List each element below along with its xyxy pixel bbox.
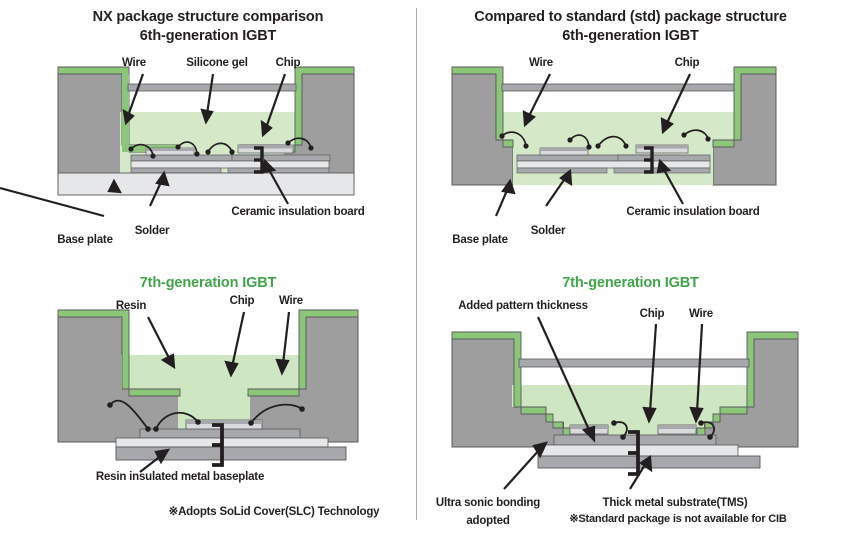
- label-ceramic-insulation-board: Ceramic insulation board: [231, 206, 364, 218]
- label-wire: Wire: [689, 308, 713, 320]
- label-base-plate: Base plate: [57, 234, 113, 246]
- lid-bar: [519, 359, 749, 367]
- silicone-gel-fill: [498, 112, 740, 185]
- lower-copper-pattern-left: [517, 168, 607, 173]
- panel-std-6th-gen: Compared to standard (std) package struc…: [418, 0, 843, 267]
- lid-bar: [502, 84, 734, 91]
- label-chip: Chip: [640, 308, 665, 320]
- chip-right: [238, 145, 293, 153]
- base-plate: [58, 173, 354, 195]
- label-thick-metal-substrate: Thick metal substrate(TMS): [603, 497, 748, 509]
- vertical-divider: [416, 8, 417, 520]
- label-resin: Resin: [116, 300, 146, 312]
- label-added-pattern-thickness: Added pattern thickness: [458, 300, 588, 312]
- upper-copper-pattern-right: [618, 155, 710, 161]
- label-ultrasonic-line2: adopted: [466, 515, 509, 527]
- label-ultrasonic-line1: Ultra sonic bonding: [436, 497, 540, 509]
- ceramic-layer: [517, 161, 710, 168]
- label-chip: Chip: [675, 57, 700, 69]
- panel-7th-gen-right: 7th-generation IGBT: [418, 267, 843, 534]
- ceramic-layer: [131, 161, 329, 168]
- label-wire: Wire: [279, 295, 303, 307]
- chip-right: [636, 145, 688, 153]
- cross-section-nx-6th: Wire Silicone gel Chip Ceramic insulatio…: [0, 0, 416, 267]
- label-wire: Wire: [529, 57, 553, 69]
- chip-left: [540, 148, 588, 155]
- metal-baseplate: [116, 447, 346, 460]
- label-ceramic-insulation-board: Ceramic insulation board: [626, 206, 759, 218]
- cross-section-7th-left: Resin Chip Wire Resin insulated metal ba…: [0, 267, 416, 534]
- footnote-slc: ※Adopts SoLid Cover(SLC) Technology: [169, 505, 381, 518]
- lower-copper-pattern-right: [228, 168, 329, 173]
- label-wire: Wire: [122, 57, 146, 69]
- cross-section-std-6th: Wire Chip Ceramic insulation board Base …: [418, 0, 843, 267]
- label-resin-insulated-metal-baseplate: Resin insulated metal baseplate: [96, 471, 264, 483]
- label-chip: Chip: [230, 295, 255, 307]
- label-silicone-gel: Silicone gel: [186, 57, 248, 69]
- label-chip: Chip: [276, 57, 301, 69]
- label-solder: Solder: [135, 225, 170, 237]
- footnote-cib: ※Standard package is not available for C…: [518, 512, 838, 525]
- label-base-plate: Base plate: [452, 234, 508, 246]
- cross-section-7th-right: Added pattern thickness Chip Wire Ultra …: [418, 267, 843, 534]
- lower-copper-pattern-left: [131, 168, 221, 173]
- diagram-canvas: NX package structure comparison 6th-gene…: [0, 0, 843, 534]
- resin-fill-center: [178, 355, 250, 429]
- pattern-layer: [140, 429, 300, 438]
- chip-right: [658, 425, 696, 434]
- label-solder: Solder: [531, 225, 566, 237]
- panel-7th-gen-left: 7th-generation IGBT: [0, 267, 416, 534]
- panel-nx-6th-gen: NX package structure comparison 6th-gene…: [0, 0, 416, 267]
- upper-copper-pattern-right: [232, 155, 330, 161]
- added-pattern-layer: [554, 435, 716, 445]
